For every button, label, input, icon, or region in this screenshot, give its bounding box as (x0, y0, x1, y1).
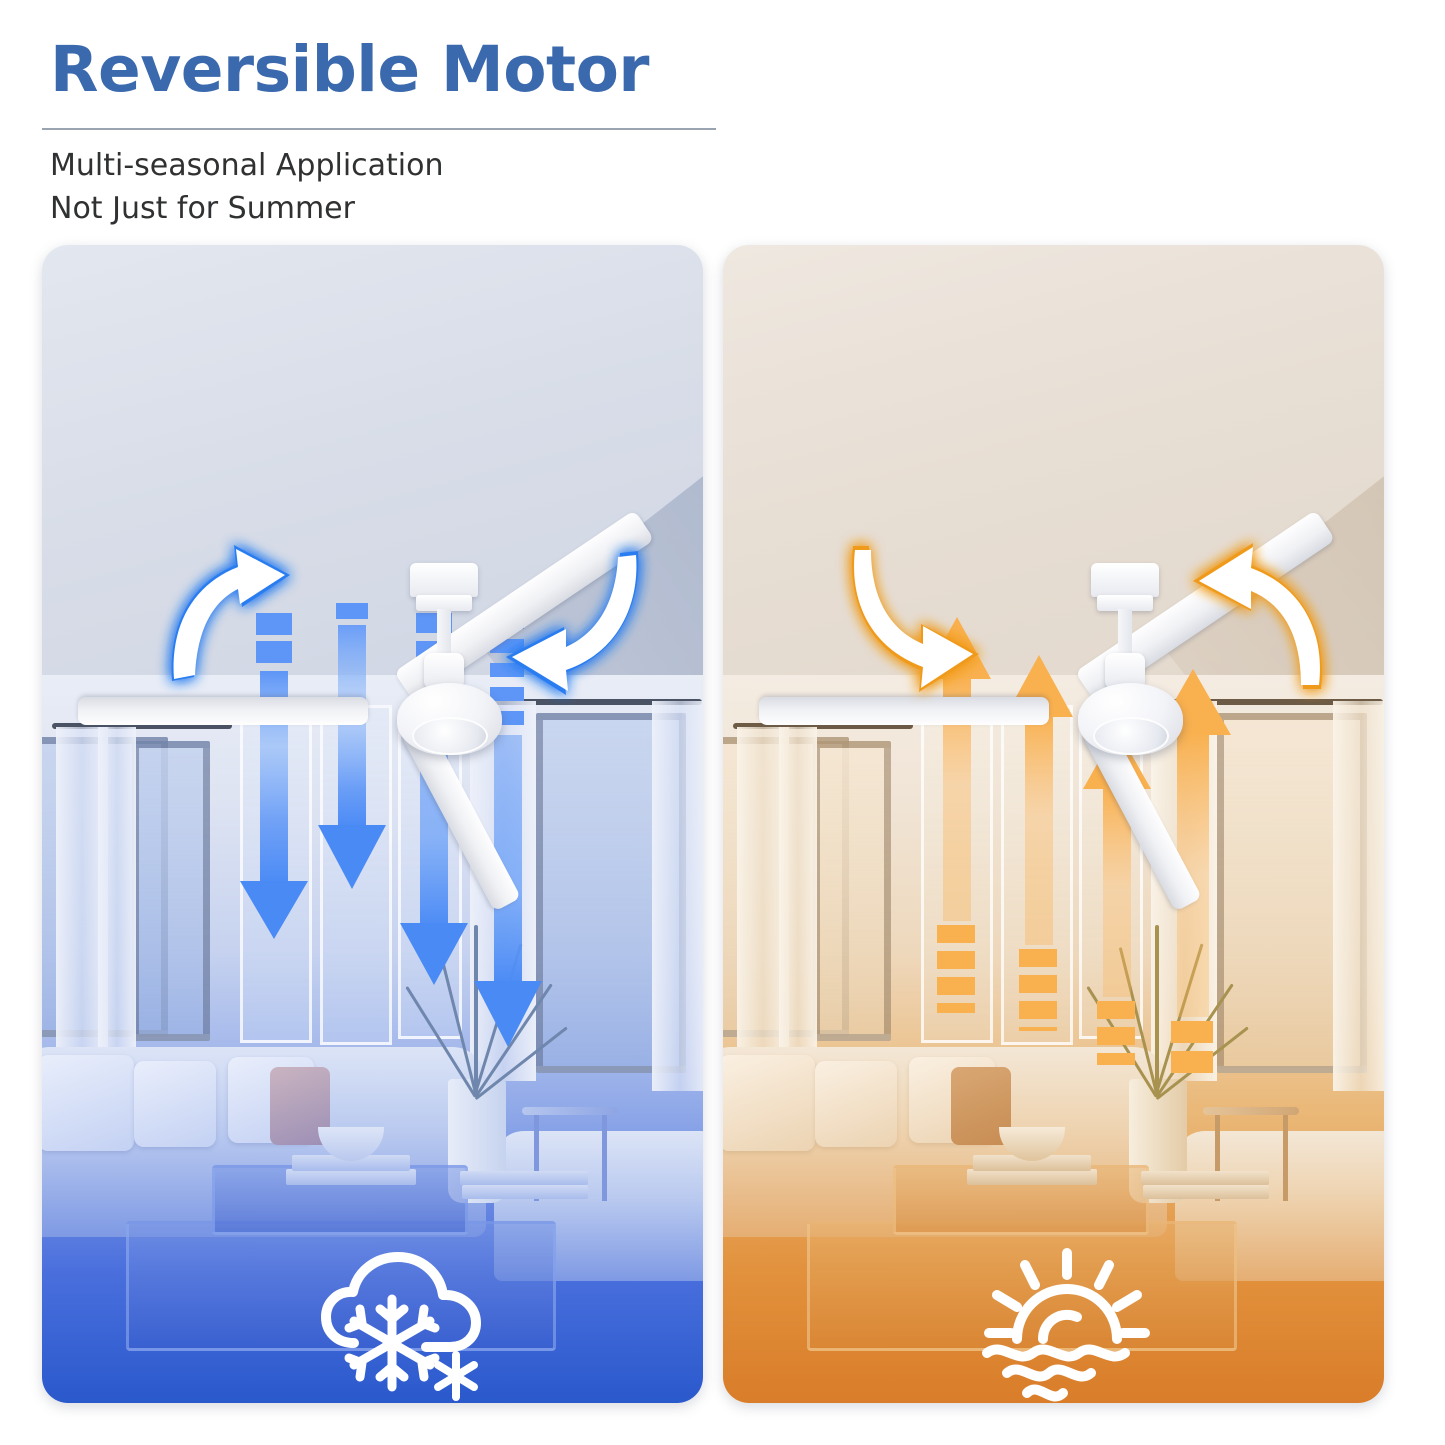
summer-scene: Summer Mode Forward Mode Cool Airflow (42, 245, 703, 1403)
sofa-cushion (815, 1061, 897, 1147)
window (132, 741, 210, 1041)
sunrise-waves-icon (981, 1247, 1153, 1403)
window (813, 741, 891, 1041)
rotation-arrow-right-down (460, 545, 660, 705)
book (462, 1185, 588, 1199)
subtitle-line-1: Multi-seasonal Application (50, 145, 444, 188)
book (460, 1171, 588, 1185)
rotation-arrow-left-up (150, 535, 320, 685)
page-title: Reversible Motor (50, 38, 649, 101)
curtain (652, 701, 703, 1091)
sofa-cushion (723, 1055, 815, 1151)
book (967, 1169, 1097, 1185)
sofa-cushion (134, 1061, 216, 1147)
winter-scene: Winter Mode Reverse Mode Warm Airflow (723, 245, 1384, 1403)
fan-downrod (437, 609, 451, 657)
title-divider (42, 128, 716, 130)
curtain (98, 727, 136, 1057)
fan-downrod (1118, 609, 1132, 657)
rotation-arrow-left-down (831, 540, 1011, 700)
airflow-arrow-down-2 (316, 603, 388, 903)
cloud-snow-icon (316, 1247, 494, 1403)
side-table-top (1203, 1107, 1299, 1115)
book (1143, 1185, 1269, 1199)
rotation-arrow-right-up (1145, 537, 1345, 697)
sofa-cushion (42, 1055, 134, 1151)
curtain (1333, 701, 1384, 1091)
panel-winter-mode[interactable]: Winter Mode Reverse Mode Warm Airflow (723, 245, 1384, 1403)
fan-light-lens (1093, 717, 1169, 755)
curtain (779, 727, 817, 1057)
side-table-leg (602, 1115, 607, 1201)
fan-blade (759, 697, 1049, 725)
side-table-leg (1283, 1115, 1288, 1201)
subtitle-line-2: Not Just for Summer (50, 188, 444, 231)
panel-summer-mode[interactable]: Summer Mode Forward Mode Cool Airflow (42, 245, 703, 1403)
fan-light-lens (412, 717, 488, 755)
fan-blade (78, 697, 368, 725)
header: Reversible Motor Multi-seasonal Applicat… (0, 0, 1445, 232)
book (1141, 1171, 1269, 1185)
subtitle-block: Multi-seasonal Application Not Just for … (50, 145, 444, 230)
book (286, 1169, 416, 1185)
side-table-top (522, 1107, 618, 1115)
